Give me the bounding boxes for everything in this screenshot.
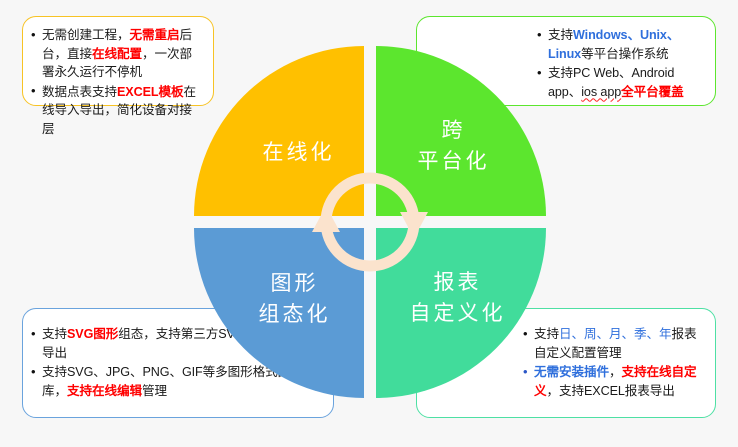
quadrant-report[interactable]: 报表 自定义化 bbox=[376, 228, 546, 398]
list-item: 无需创建工程，无需重启后台，直接在线配置，一次部署永久运行不停机 bbox=[29, 26, 203, 82]
quadrant-graphics[interactable]: 图形 组态化 bbox=[194, 228, 364, 398]
callout-top-right-list: 支持Windows、Unix、Linux等平台操作系统 支持PC Web、And… bbox=[535, 26, 705, 101]
list-item: 支持Windows、Unix、Linux等平台操作系统 bbox=[535, 26, 705, 63]
quadrant-graphics-label-2: 组态化 bbox=[256, 299, 331, 330]
list-item: 支持PC Web、Android app、ios app全平台覆盖 bbox=[535, 64, 705, 101]
quadrant-report-label-2: 自定义化 bbox=[407, 298, 506, 329]
diagram-canvas: 无需创建工程，无需重启后台，直接在线配置，一次部署永久运行不停机 数据点表支持E… bbox=[0, 0, 738, 447]
quadrant-cross-platform[interactable]: 跨 平台化 bbox=[376, 46, 546, 216]
quadrant-online-label-1: 在线化 bbox=[260, 137, 335, 168]
quadrant-online[interactable]: 在线化 bbox=[194, 46, 364, 216]
quadrant-cross-platform-label-1: 跨 bbox=[415, 115, 490, 146]
quadrant-cross-platform-label-2: 平台化 bbox=[415, 146, 490, 177]
list-item: 无需安装插件，支持在线自定义，支持EXCEL报表导出 bbox=[521, 363, 705, 400]
list-item: 支持日、周、月、季、年报表自定义配置管理 bbox=[521, 325, 705, 362]
quadrant-graphics-label-1: 图形 bbox=[256, 268, 331, 299]
quadrant-wheel: 在线化 跨 平台化 图形 组态化 报表 自定义化 bbox=[194, 46, 546, 398]
callout-top-left-list: 无需创建工程，无需重启后台，直接在线配置，一次部署永久运行不停机 数据点表支持E… bbox=[29, 26, 203, 138]
callout-bottom-right-list: 支持日、周、月、季、年报表自定义配置管理 无需安装插件，支持在线自定义，支持EX… bbox=[521, 325, 705, 400]
list-item: 数据点表支持EXCEL模板在线导入导出，简化设备对接层 bbox=[29, 83, 203, 139]
quadrant-report-label-1: 报表 bbox=[407, 267, 506, 298]
callout-top-left: 无需创建工程，无需重启后台，直接在线配置，一次部署永久运行不停机 数据点表支持E… bbox=[22, 16, 214, 106]
